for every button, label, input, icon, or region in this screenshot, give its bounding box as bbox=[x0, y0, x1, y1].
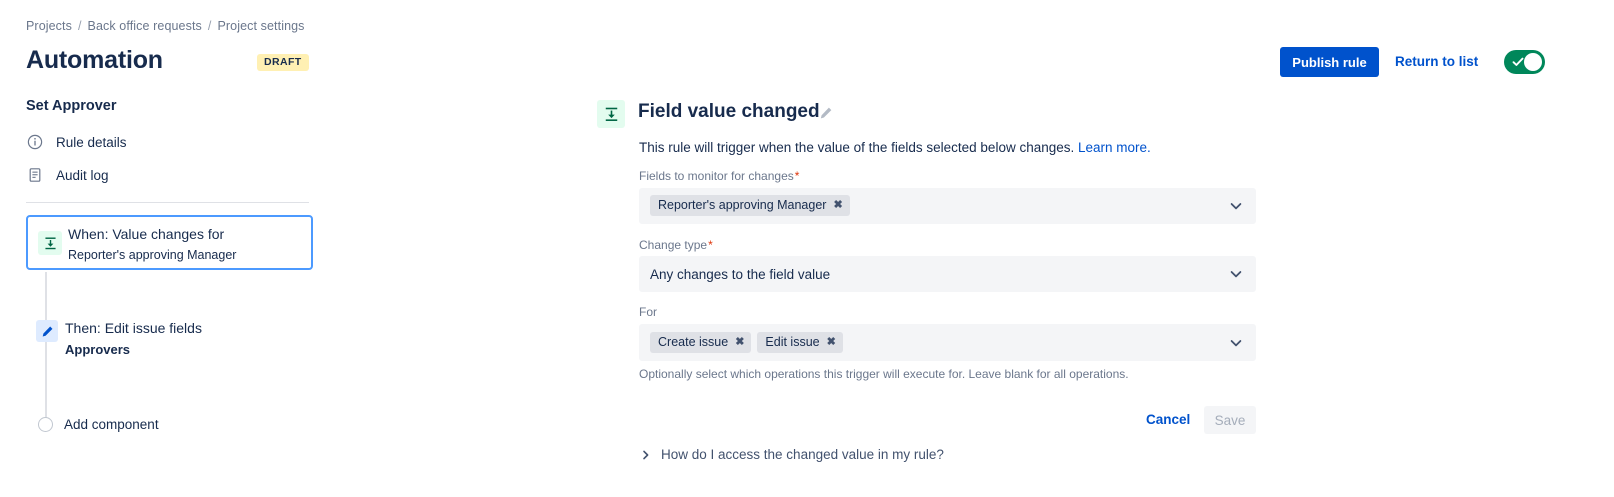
for-label-text: For bbox=[639, 305, 657, 319]
tag-edit-issue[interactable]: Edit issue ✖ bbox=[757, 332, 842, 353]
publish-rule-button[interactable]: Publish rule bbox=[1280, 47, 1379, 77]
tag-reporters-approving-manager[interactable]: Reporter's approving Manager ✖ bbox=[650, 195, 850, 216]
panel-title: Field value changed bbox=[638, 101, 820, 123]
fields-to-monitor-label: Fields to monitor for changes* bbox=[639, 169, 799, 183]
accordion-how-do-i-access-changed-value[interactable]: How do I access the changed value in my … bbox=[641, 447, 944, 462]
for-select[interactable]: Create issue ✖ Edit issue ✖ bbox=[639, 324, 1256, 361]
chain-connector-line bbox=[45, 272, 47, 424]
chain-action-subtitle: Approvers bbox=[65, 342, 130, 357]
sidebar-item-label: Audit log bbox=[56, 168, 109, 183]
check-icon bbox=[1512, 56, 1524, 68]
for-help-text: Optionally select which operations this … bbox=[639, 367, 1129, 381]
chevron-down-icon bbox=[1229, 199, 1243, 213]
tag-label: Create issue bbox=[658, 335, 728, 349]
return-to-list-link[interactable]: Return to list bbox=[1395, 54, 1478, 69]
toggle-knob bbox=[1524, 53, 1542, 71]
breadcrumb-item-back-office-requests[interactable]: Back office requests bbox=[88, 19, 202, 33]
breadcrumb: Projects/Back office requests/Project se… bbox=[26, 19, 305, 33]
tag-create-issue[interactable]: Create issue ✖ bbox=[650, 332, 751, 353]
breadcrumb-separator: / bbox=[208, 19, 212, 33]
sidebar-item-audit-log[interactable]: Audit log bbox=[26, 166, 109, 184]
chain-trigger-title: When: Value changes for bbox=[68, 226, 224, 242]
save-button[interactable]: Save bbox=[1204, 406, 1256, 434]
sidebar-item-label: Rule details bbox=[56, 135, 127, 150]
tag-remove-icon[interactable]: ✖ bbox=[735, 337, 744, 348]
required-asterisk: * bbox=[708, 238, 713, 252]
tag-label: Reporter's approving Manager bbox=[658, 198, 826, 212]
fields-to-monitor-label-text: Fields to monitor for changes bbox=[639, 169, 794, 183]
breadcrumb-item-projects[interactable]: Projects bbox=[26, 19, 72, 33]
tag-label: Edit issue bbox=[765, 335, 819, 349]
edit-pencil-icon[interactable] bbox=[819, 106, 833, 120]
info-circle-icon bbox=[26, 133, 44, 151]
for-label: For bbox=[639, 305, 657, 319]
tag-remove-icon[interactable]: ✖ bbox=[827, 337, 836, 348]
tag-remove-icon[interactable]: ✖ bbox=[833, 200, 842, 211]
chain-trigger-card[interactable]: When: Value changes for Reporter's appro… bbox=[26, 215, 313, 270]
add-component-circle-icon bbox=[38, 417, 53, 432]
document-log-icon bbox=[26, 166, 44, 184]
chain-trigger-subtitle: Reporter's approving Manager bbox=[68, 248, 236, 262]
page-title: Automation bbox=[26, 46, 163, 75]
learn-more-link[interactable]: Learn more. bbox=[1078, 140, 1151, 155]
panel-description-text: This rule will trigger when the value of… bbox=[639, 140, 1074, 155]
chevron-right-icon bbox=[641, 450, 651, 460]
change-type-label-text: Change type bbox=[639, 238, 707, 252]
required-asterisk: * bbox=[795, 169, 800, 183]
chevron-down-icon bbox=[1229, 336, 1243, 350]
pencil-icon bbox=[36, 320, 58, 342]
breadcrumb-item-project-settings[interactable]: Project settings bbox=[217, 19, 304, 33]
add-component-button[interactable]: Add component bbox=[38, 417, 159, 432]
change-type-select[interactable]: Any changes to the field value bbox=[639, 256, 1256, 292]
fields-to-monitor-select[interactable]: Reporter's approving Manager ✖ bbox=[639, 188, 1256, 224]
chain-action-title: Then: Edit issue fields bbox=[65, 320, 202, 336]
field-value-changed-icon bbox=[597, 100, 625, 128]
sidebar-divider bbox=[26, 202, 309, 203]
breadcrumb-separator: / bbox=[78, 19, 82, 33]
cancel-button[interactable]: Cancel bbox=[1146, 412, 1190, 427]
add-component-label: Add component bbox=[64, 417, 159, 432]
status-badge: DRAFT bbox=[257, 54, 309, 71]
field-value-changed-icon bbox=[38, 231, 62, 255]
change-type-value: Any changes to the field value bbox=[650, 267, 830, 282]
panel-description: This rule will trigger when the value of… bbox=[639, 140, 1151, 155]
chevron-down-icon bbox=[1229, 267, 1243, 281]
accordion-label: How do I access the changed value in my … bbox=[661, 447, 944, 462]
rule-name-heading: Set Approver bbox=[26, 98, 117, 114]
enable-rule-toggle[interactable] bbox=[1504, 50, 1545, 74]
change-type-label: Change type* bbox=[639, 238, 713, 252]
sidebar-item-rule-details[interactable]: Rule details bbox=[26, 133, 127, 151]
